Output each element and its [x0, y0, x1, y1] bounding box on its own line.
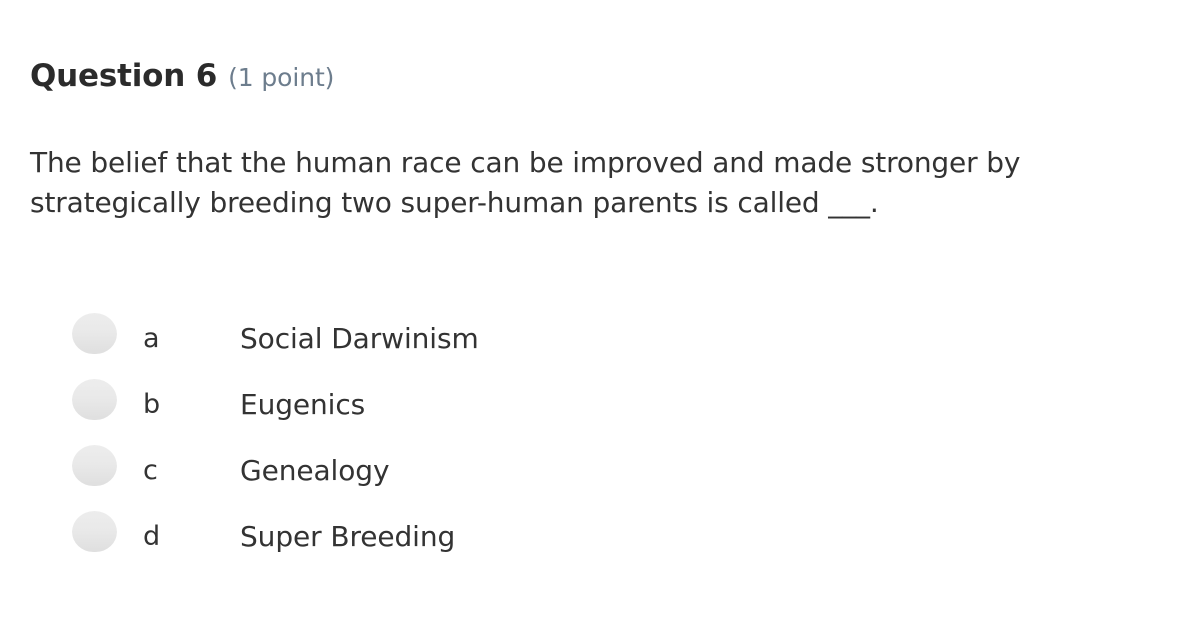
option-label-d[interactable]: Super Breeding	[240, 503, 455, 569]
radio-button-icon-d[interactable]	[72, 511, 117, 554]
option-letter-b: b	[143, 371, 160, 437]
radio-button-icon-a[interactable]	[72, 313, 117, 356]
quiz-question-page: Question 6 (1 point) The belief that the…	[0, 0, 1200, 618]
option-letter-d: d	[143, 503, 160, 569]
option-label-b[interactable]: Eugenics	[240, 371, 365, 437]
question-points-label: (1 point)	[228, 63, 334, 92]
option-label-c[interactable]: Genealogy	[240, 437, 389, 503]
option-row-a[interactable]: a Social Darwinism	[0, 305, 1200, 371]
option-row-b[interactable]: b Eugenics	[0, 371, 1200, 437]
answer-options-list: a Social Darwinism b Eugenics c Genealog…	[0, 305, 1200, 569]
question-text: The belief that the human race can be im…	[30, 143, 1145, 223]
radio-button-icon-c[interactable]	[72, 445, 117, 488]
radio-button-icon-b[interactable]	[72, 379, 117, 422]
option-letter-c: c	[143, 437, 158, 503]
option-row-d[interactable]: d Super Breeding	[0, 503, 1200, 569]
page-title: Question 6	[30, 58, 217, 94]
option-label-a[interactable]: Social Darwinism	[240, 305, 479, 371]
question-header: Question 6 (1 point)	[30, 58, 334, 94]
option-letter-a: a	[143, 305, 160, 371]
option-row-c[interactable]: c Genealogy	[0, 437, 1200, 503]
